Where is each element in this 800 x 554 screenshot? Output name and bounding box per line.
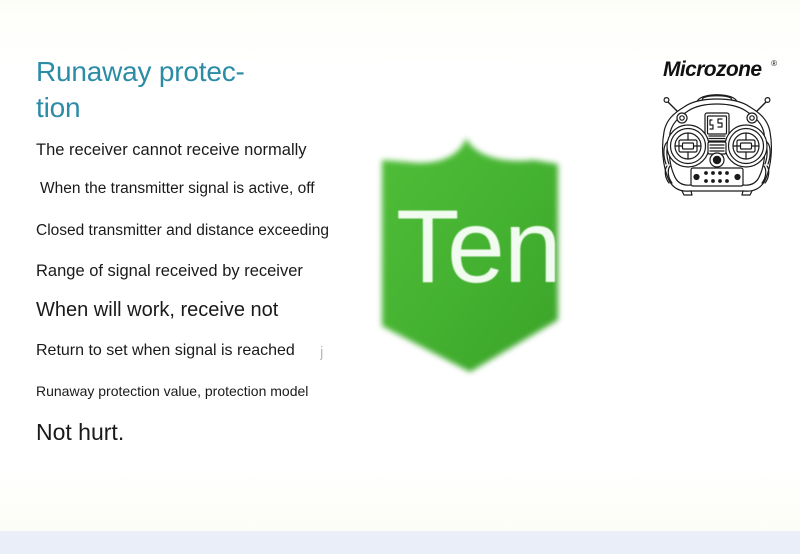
bottom-band	[0, 531, 800, 554]
brand-name: Microzone	[663, 57, 775, 83]
body-line-3: Closed transmitter and distance exceedin…	[36, 222, 329, 240]
page-title: Runaway protec-tion	[36, 54, 281, 126]
shield-graphic: Ten	[368, 130, 584, 380]
body-line-1: The receiver cannot receive normally	[36, 141, 307, 160]
body-line-2: When the transmitter signal is active, o…	[40, 180, 315, 198]
text-column: Runaway protec-tion The receiver cannot …	[0, 0, 345, 531]
trademark-symbol: ®	[771, 59, 777, 68]
body-line-8: Not hurt.	[36, 419, 124, 446]
shield-label: Ten	[396, 188, 596, 308]
body-line-6: Return to set when signal is reached	[36, 342, 295, 360]
rc-transmitter-icon	[658, 86, 776, 198]
body-line-5: When will work, receive not	[36, 299, 278, 322]
brand-logo: Microzone ®	[663, 57, 775, 83]
shield-label-text: Ten	[396, 188, 596, 306]
body-line-4: Range of signal received by receiver	[36, 262, 303, 281]
clipped-glyph: j	[320, 344, 326, 362]
transmitter-illustration	[658, 86, 776, 198]
body-line-7: Runaway protection value, protection mod…	[36, 383, 308, 399]
slide-page: Runaway protec-tion The receiver cannot …	[0, 0, 800, 554]
